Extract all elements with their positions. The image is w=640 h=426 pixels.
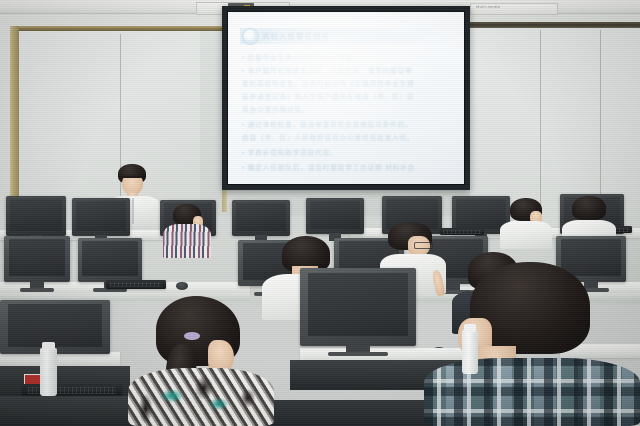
- slide-line-7: 由县（市、区）人民政府征兵办公室优先批准入伍。: [242, 132, 414, 142]
- plaid-shirt-body: [424, 358, 640, 426]
- presentation-slide: 高校入伍警征报名 • 应届毕业生本人向所在高校申请 • 本户籍所在地或无应届、入…: [228, 12, 464, 184]
- slide-line-8: • 学费补偿和助学贷款代偿。: [242, 147, 338, 157]
- monitor-c2: [300, 268, 416, 346]
- wall-sign-right-label: Multi-media: [476, 4, 500, 9]
- wall-seam-3: [600, 30, 601, 220]
- student-plaid-shirt: [424, 262, 640, 426]
- whiteboard-post-left: [10, 26, 19, 222]
- slide-line-1: • 应届毕业生本人向所在高校申请: [242, 52, 353, 62]
- projection-screen: 高校入伍警征报名 • 应届毕业生本人向所在高校申请 • 本户籍所在地或无应届、入…: [228, 12, 464, 184]
- water-bottle-cap: [42, 342, 55, 350]
- slide-line-9: • 确定入伍部队后，请及时要取学工办证明 材料补办: [242, 162, 415, 172]
- classroom-photo: Multi-media 高校入伍警征报名 • 应届毕业生本人向所在高校申请 • …: [0, 0, 640, 426]
- wall-seam-2: [540, 30, 541, 220]
- slide-line-3: 查的高校毕业生，还需开始附件《应届高校毕业生预: [242, 78, 414, 88]
- slide-line-5: 兵办公室办理应征。: [242, 104, 309, 114]
- mouse-b2: [176, 282, 188, 290]
- instructor-fringe: [119, 171, 145, 178]
- slide-line-4: 征申请登记表》到入学前户籍所在地县（市、区）征: [242, 91, 414, 101]
- glasses-icon: [414, 242, 433, 249]
- monitor-a5: [306, 198, 364, 234]
- water-bottle-2-cap: [464, 324, 476, 332]
- monitor-b1: [4, 236, 70, 282]
- monitor-c1: [0, 300, 110, 354]
- instructor-shirt-placket: [132, 198, 134, 224]
- whiteboard-rail-left: [12, 26, 222, 31]
- slide-line-6: • 通过体检检查、政治审查并符合其他征兵条件的，: [242, 119, 413, 129]
- student-striped-shirt-body: [163, 224, 211, 258]
- student-far-right-hair: [572, 196, 606, 220]
- student-striped-shirt: [163, 204, 211, 254]
- monitor-a1: [6, 196, 66, 236]
- slide-title-bullet-icon: [242, 28, 259, 45]
- keyboard-b1: [106, 280, 166, 289]
- whiteboard-rail-right: [468, 22, 640, 28]
- monitor-a2: [72, 198, 130, 236]
- patterned-blouse: [128, 368, 274, 426]
- slide-title: 高校入伍警征报名: [262, 31, 330, 42]
- water-bottle: [40, 348, 57, 396]
- monitor-a4: [232, 200, 290, 236]
- water-bottle-2: [462, 330, 478, 374]
- desk-row-c-left: [0, 352, 120, 366]
- student-ponytail-patterned-blouse: [128, 296, 274, 426]
- student-white-shirt-right: [500, 198, 552, 246]
- monitor-b2: [78, 238, 142, 282]
- student-right-shirt: [500, 221, 552, 249]
- slide-line-2: • 本户籍所在地或无应届、入校时间、填写内容征审: [242, 65, 413, 75]
- hair-tie-icon: [184, 332, 200, 340]
